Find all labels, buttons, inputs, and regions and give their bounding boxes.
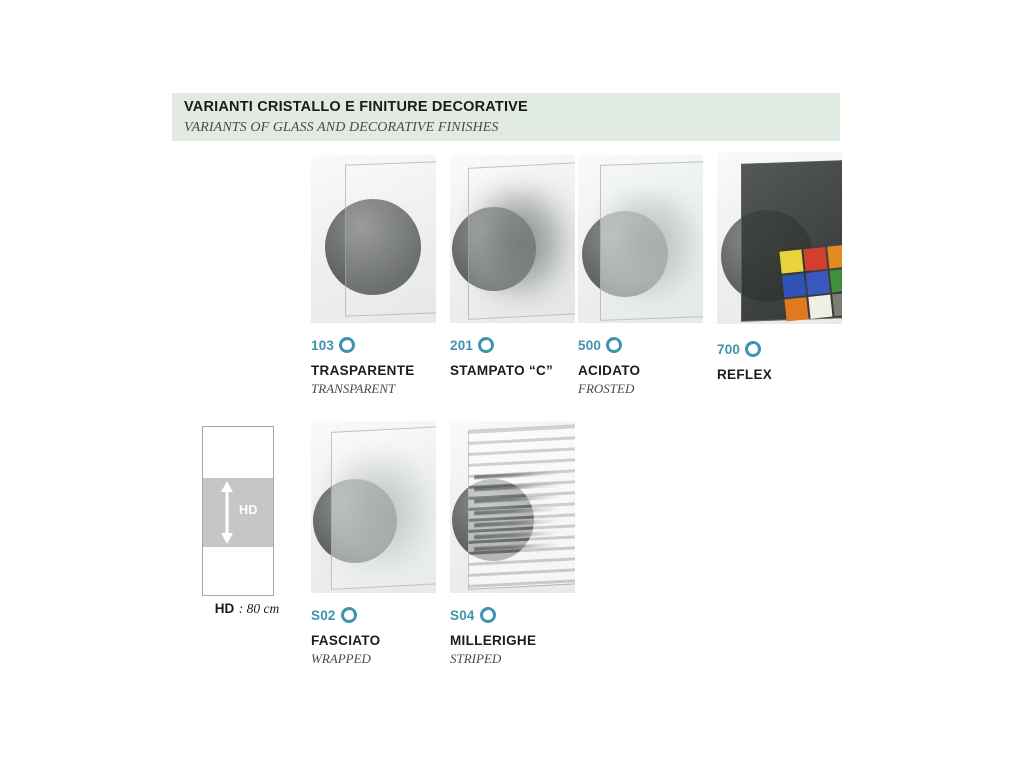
variant-name-en: TRANSPARENT (311, 381, 436, 397)
variant-code-line: 500 (578, 336, 703, 354)
page-root: VARIANTI CRISTALLO E FINITURE DECORATIVE… (0, 0, 1024, 768)
finish-dot-icon (606, 337, 622, 353)
finish-dot-icon (341, 607, 357, 623)
color-swatch (830, 268, 842, 292)
variant-photo-millerighe (450, 421, 575, 593)
color-swatch (803, 247, 827, 271)
hd-caption: HD : 80 cm (192, 600, 302, 618)
hd-dimension-diagram: HD (202, 426, 274, 596)
color-swatch (827, 244, 842, 268)
finish-dot-icon (745, 341, 761, 357)
variant-name-en: FROSTED (578, 381, 703, 397)
color-swatch (784, 297, 808, 321)
variant-card-201[interactable]: 201 STAMPATO “C” (450, 155, 575, 381)
variant-code: S04 (450, 608, 475, 623)
sphere-stripe-distortion (474, 471, 560, 560)
variant-card-700[interactable]: 700 REFLEX (717, 152, 842, 385)
variant-name-it: ACIDATO (578, 363, 703, 379)
page-title: VARIANTI CRISTALLO E FINITURE DECORATIVE (184, 99, 840, 116)
variant-name-en: WRAPPED (311, 651, 436, 667)
page-subtitle: VARIANTS OF GLASS AND DECORATIVE FINISHE… (184, 119, 840, 137)
variant-name-it: MILLERIGHE (450, 633, 575, 649)
hd-caption-value: : 80 cm (239, 601, 280, 616)
color-swatch (779, 249, 803, 273)
hd-caption-key: HD (215, 601, 235, 616)
variant-code: 103 (311, 338, 334, 353)
variant-photo-acidato (578, 155, 703, 323)
color-swatch (782, 273, 806, 297)
variant-name-it: TRASPARENTE (311, 363, 436, 379)
finish-dot-icon (480, 607, 496, 623)
variant-name-en: STRIPED (450, 651, 575, 667)
color-swatch (832, 292, 842, 316)
variant-code-line: S04 (450, 606, 575, 624)
variant-card-s02[interactable]: S02 FASCIATO WRAPPED (311, 421, 436, 667)
variant-photo-fasciato (311, 421, 436, 593)
glass-pane (345, 161, 436, 316)
variant-code-line: 103 (311, 336, 436, 354)
variant-code: S02 (311, 608, 336, 623)
variant-card-s04[interactable]: S04 MILLERIGHE STRIPED (450, 421, 575, 667)
color-swatch (806, 271, 830, 295)
variant-code: 700 (717, 342, 740, 357)
variant-code-line: S02 (311, 606, 436, 624)
variant-code: 201 (450, 338, 473, 353)
glass-pane (331, 426, 436, 590)
glass-pane (468, 162, 575, 320)
variant-code: 500 (578, 338, 601, 353)
variant-code-line: 700 (717, 340, 842, 358)
section-header-band: VARIANTI CRISTALLO E FINITURE DECORATIVE… (172, 93, 840, 141)
glass-pane (600, 161, 703, 321)
color-swatch (808, 295, 832, 319)
variant-card-103[interactable]: 103 TRASPARENTE TRANSPARENT (311, 155, 436, 397)
variant-name-it: FASCIATO (311, 633, 436, 649)
variant-code-line: 201 (450, 336, 575, 354)
variant-name-it: STAMPATO “C” (450, 363, 575, 379)
hd-double-arrow-icon (219, 481, 235, 544)
hd-band-label: HD (239, 503, 258, 517)
variant-photo-reflex (717, 152, 842, 324)
hd-highlight-band (203, 478, 273, 547)
finish-dot-icon (339, 337, 355, 353)
finish-dot-icon (478, 337, 494, 353)
color-checker-swatches (779, 245, 842, 324)
variant-card-500[interactable]: 500 ACIDATO FROSTED (578, 155, 703, 397)
variant-name-it: REFLEX (717, 367, 842, 383)
variant-photo-transparent (311, 155, 436, 323)
variant-photo-stampato-c (450, 155, 575, 323)
